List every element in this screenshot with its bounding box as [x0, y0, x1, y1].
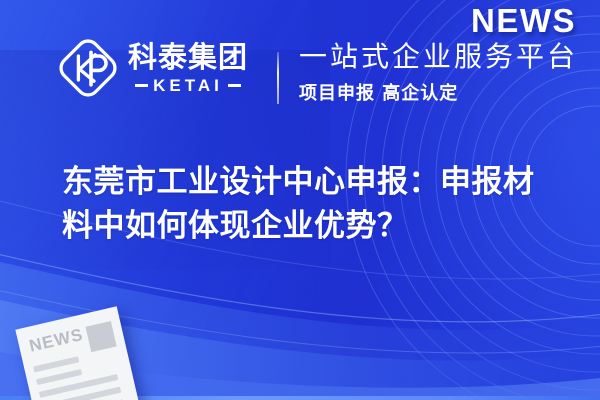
ketai-diamond-kp-monogram-icon [58, 38, 118, 98]
logo-dash-left [135, 84, 148, 87]
article-title: 东莞市工业设计中心申报：申报材料中如何体现企业优势？ [62, 160, 562, 248]
slogan-block: 一站式企业服务平台 项目申报 高企认定 [299, 42, 578, 105]
logo-en-row: KETAI [135, 77, 241, 94]
banner-header: 科泰集团 KETAI 一站式企业服务平台 项目申报 高企认定 NEWS [0, 0, 600, 140]
slogan-main: 一站式企业服务平台 [299, 42, 578, 71]
news-badge: NEWS [471, 2, 576, 40]
news-banner: 科泰集团 KETAI 一站式企业服务平台 项目申报 高企认定 NEWS 东莞市工… [0, 0, 600, 400]
brand-logo[interactable]: 科泰集团 KETAI [58, 38, 248, 98]
logo-wordmark: 科泰集团 KETAI [128, 43, 248, 94]
slogan-sub: 项目申报 高企认定 [299, 79, 578, 105]
logo-company-name-en: KETAI [153, 77, 223, 94]
header-divider [277, 52, 279, 104]
logo-company-name-cn: 科泰集团 [128, 43, 248, 72]
logo-dash-right [228, 84, 241, 87]
